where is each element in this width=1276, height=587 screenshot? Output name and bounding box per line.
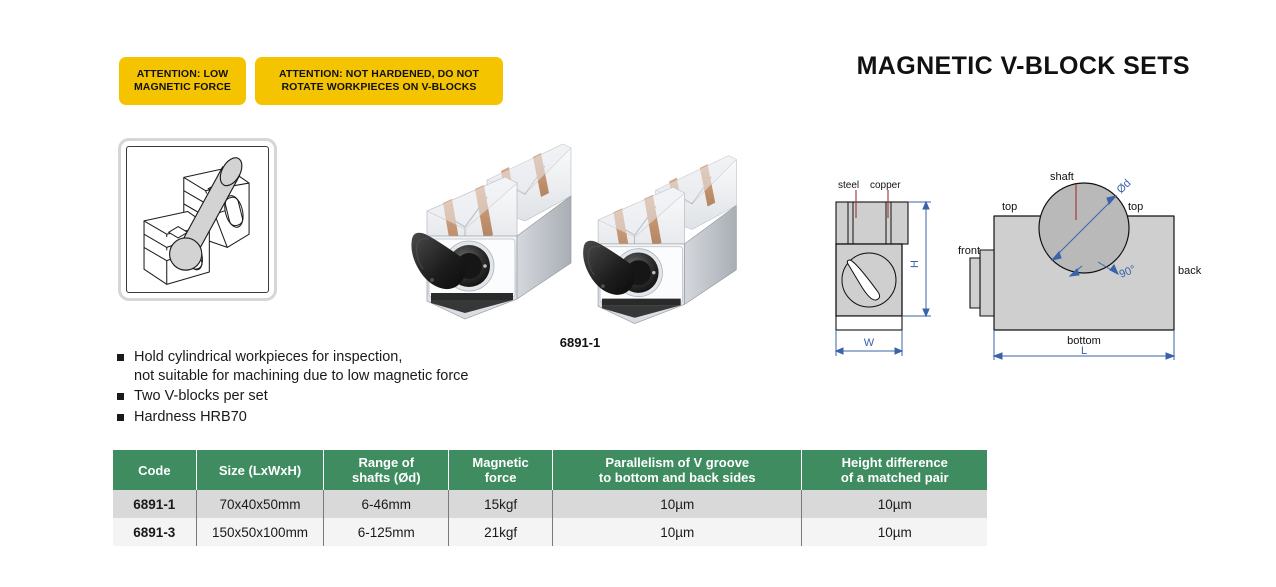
- column-header-size: Size (LxWxH): [196, 450, 324, 490]
- column-header-magnetic-force: Magnetic force: [449, 450, 553, 490]
- cell-force: 21kgf: [449, 518, 553, 546]
- feature-line-1: Two V-blocks per set: [134, 388, 268, 404]
- cell-height-difference: 10µm: [802, 490, 987, 518]
- feature-list: Hold cylindrical workpieces for inspecti…: [115, 348, 575, 428]
- column-header-code: Code: [113, 450, 196, 490]
- bullet-square-icon: [117, 354, 124, 361]
- feature-line-1: Hold cylindrical workpieces for inspecti…: [134, 349, 402, 365]
- feature-line-2: not suitable for machining due to low ma…: [134, 367, 575, 386]
- cell-code: 6891-1: [113, 490, 196, 518]
- label-diameter: Ød: [1115, 177, 1134, 196]
- bullet-square-icon: [117, 414, 124, 421]
- cell-height-difference: 10µm: [802, 518, 987, 546]
- label-top-right: top: [1128, 201, 1143, 213]
- label-copper: copper: [870, 180, 901, 191]
- column-header-parallelism: Parallelism of V groove to bottom and ba…: [553, 450, 802, 490]
- label-front: front: [958, 245, 980, 257]
- attention-badge-not-hardened: ATTENTION: NOT HARDENED, DO NOT ROTATE W…: [255, 57, 503, 105]
- v-block-left: [411, 144, 571, 319]
- cell-range: 6-125mm: [324, 518, 449, 546]
- badge-line-2: MAGNETIC FORCE: [134, 81, 231, 93]
- badge-line-2: ROTATE WORKPIECES ON V-BLOCKS: [281, 81, 476, 93]
- cell-force: 15kgf: [449, 490, 553, 518]
- magnetic-v-block-pair-photo: [405, 133, 755, 328]
- badge-line-1: ATTENTION: LOW: [137, 68, 229, 80]
- column-header-height-difference: Height difference of a matched pair: [802, 450, 987, 490]
- cell-range: 6-46mm: [324, 490, 449, 518]
- feature-line-1: Hardness HRB70: [134, 409, 247, 425]
- cell-parallelism: 10µm: [553, 490, 802, 518]
- side-view-drawing: Ød 90° top top shaft front back bottom L: [958, 158, 1210, 364]
- product-photo: [405, 133, 755, 328]
- application-illustration-box: [118, 138, 277, 301]
- label-length: L: [1081, 345, 1087, 357]
- cell-parallelism: 10µm: [553, 518, 802, 546]
- feature-item: Hold cylindrical workpieces for inspecti…: [115, 348, 575, 385]
- feature-item: Two V-blocks per set: [115, 387, 575, 406]
- label-height: H: [909, 260, 921, 268]
- page-title: MAGNETIC V-BLOCK SETS: [857, 52, 1190, 81]
- cell-code: 6891-3: [113, 518, 196, 546]
- v-blocks-with-shaft-icon: [127, 147, 268, 292]
- column-header-range-of-shafts: Range of shafts (Ød): [324, 450, 449, 490]
- table-header-row: Code Size (LxWxH) Range of shafts (Ød) M…: [113, 450, 987, 490]
- attention-badge-low-magnetic-force: ATTENTION: LOW MAGNETIC FORCE: [119, 57, 246, 105]
- specification-table: Code Size (LxWxH) Range of shafts (Ød) M…: [113, 450, 987, 546]
- application-illustration-frame: [126, 146, 269, 293]
- diagram-front-view: steel copper H W: [826, 176, 958, 362]
- badge-line-1: ATTENTION: NOT HARDENED, DO NOT: [279, 68, 479, 80]
- front-view-drawing: steel copper H W: [826, 176, 958, 362]
- v-block-right: [583, 156, 736, 324]
- table-row: 6891-3 150x50x100mm 6-125mm 21kgf 10µm 1…: [113, 518, 987, 546]
- diagram-side-view: Ød 90° top top shaft front back bottom L: [958, 158, 1210, 364]
- cell-size: 70x40x50mm: [196, 490, 324, 518]
- label-back: back: [1178, 265, 1202, 277]
- cell-size: 150x50x100mm: [196, 518, 324, 546]
- feature-item: Hardness HRB70: [115, 408, 575, 427]
- label-top-left: top: [1002, 201, 1017, 213]
- label-width: W: [864, 337, 875, 349]
- label-steel: steel: [838, 180, 859, 191]
- label-shaft: shaft: [1050, 171, 1074, 183]
- bullet-square-icon: [117, 393, 124, 400]
- table-row: 6891-1 70x40x50mm 6-46mm 15kgf 10µm 10µm: [113, 490, 987, 518]
